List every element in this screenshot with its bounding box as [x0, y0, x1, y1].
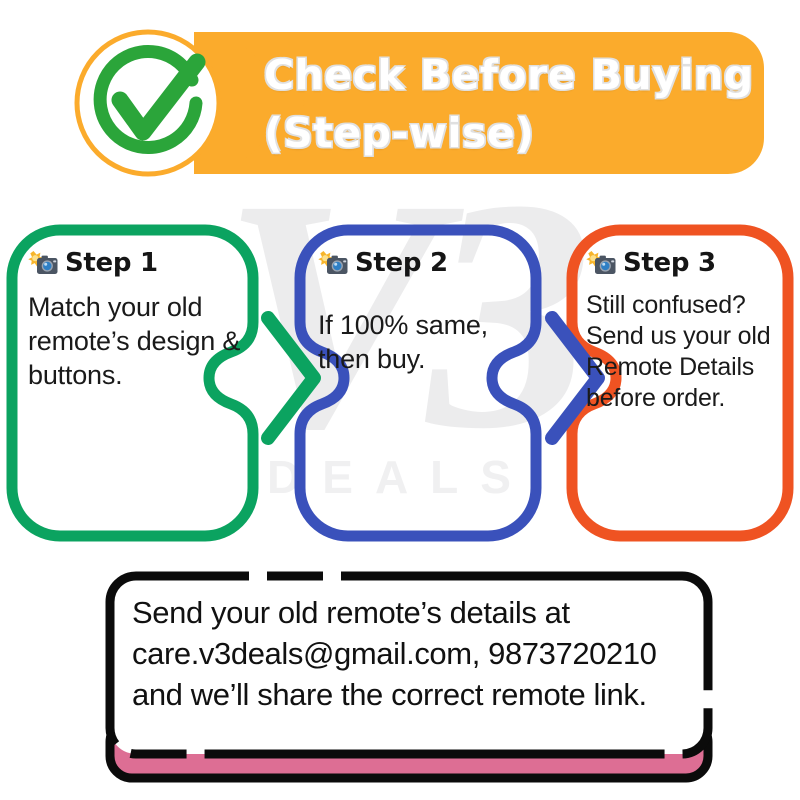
header-banner: Check Before Buying (Step-wise) — [44, 28, 768, 178]
steps-row: Step 1 Match your old remote’s design & … — [0, 218, 800, 548]
header-bubble-shape — [44, 28, 768, 178]
step-2-header: Step 2 — [318, 248, 516, 278]
step-1-body: Match your old remote’s design & buttons… — [28, 290, 250, 392]
contact-panel[interactable]: Send your old remote’s details at care.v… — [104, 570, 714, 785]
step-card-2[interactable]: Step 2 If 100% same, then buy. — [318, 248, 516, 376]
contact-text: Send your old remote’s details at care.v… — [132, 592, 698, 715]
step-3-body: Still confused? Send us your old Remote … — [586, 290, 786, 414]
camera-with-flash-icon — [586, 250, 616, 276]
camera-with-flash-icon — [28, 250, 58, 276]
step-1-header: Step 1 — [28, 248, 250, 278]
step-3-header: Step 3 — [586, 248, 786, 278]
step-1-title: Step 1 — [65, 248, 158, 278]
step-card-3[interactable]: Step 3 Still confused? Send us your old … — [586, 248, 786, 414]
step-2-title: Step 2 — [355, 248, 448, 278]
step-3-title: Step 3 — [623, 248, 716, 278]
step-card-1[interactable]: Step 1 Match your old remote’s design & … — [28, 248, 250, 392]
step-2-body: If 100% same, then buy. — [318, 308, 516, 376]
camera-with-flash-icon — [318, 250, 348, 276]
